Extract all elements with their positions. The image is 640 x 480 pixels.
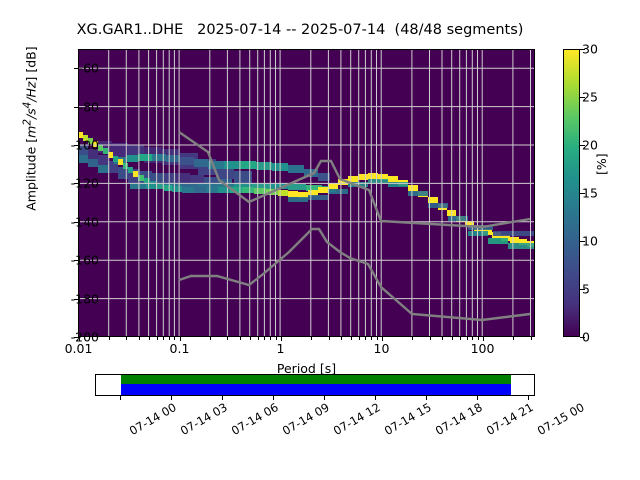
colorbar-label: [%] — [594, 153, 609, 175]
y-tick-mark — [74, 183, 79, 184]
x-minor-tick — [210, 337, 211, 340]
time-coverage-strip[interactable] — [95, 374, 535, 396]
y-tick-label: -60 — [39, 61, 99, 76]
colorbar-tick-mark — [580, 289, 585, 290]
colorbar-tick-mark — [580, 49, 585, 50]
y-axis-label: Amplitude [m2/s4/Hz] [dB] — [21, 4, 38, 254]
y-tick-label: -180 — [39, 291, 99, 306]
time-tick-label: 07-15 00 — [535, 400, 587, 438]
x-tick-mark — [180, 337, 181, 341]
colorbar-tick-mark — [580, 337, 585, 338]
x-minor-tick — [163, 337, 164, 340]
x-tick-label: 0.01 — [65, 341, 93, 356]
x-minor-tick — [341, 337, 342, 340]
x-minor-tick — [174, 337, 175, 340]
x-minor-tick — [365, 337, 366, 340]
x-tick-label: 100 — [471, 341, 495, 356]
x-tick-mark — [483, 337, 484, 341]
x-minor-tick — [377, 337, 378, 340]
x-minor-tick — [430, 337, 431, 340]
time-tick-label: 07-14 00 — [127, 400, 179, 438]
x-minor-tick — [258, 337, 259, 340]
time-tick-label: 07-14 03 — [178, 400, 230, 438]
time-tick-label: 07-14 09 — [280, 400, 332, 438]
x-minor-tick — [149, 337, 150, 340]
x-minor-tick — [250, 337, 251, 340]
x-tick-label: 1 — [277, 341, 285, 356]
x-tick-label: 10 — [374, 341, 390, 356]
colorbar-tick-mark — [580, 241, 585, 242]
time-tick-label: 07-14 21 — [484, 400, 536, 438]
y-tick-label: -80 — [39, 99, 99, 114]
ppsd-plot-area[interactable] — [78, 49, 535, 337]
x-tick-mark — [281, 337, 282, 341]
time-tick-label: 07-14 06 — [229, 400, 281, 438]
x-minor-tick — [412, 337, 413, 340]
x-tick-mark — [79, 337, 80, 341]
segment-coverage-bar — [121, 375, 511, 384]
x-minor-tick — [240, 337, 241, 340]
x-minor-tick — [329, 337, 330, 340]
x-tick-mark — [382, 337, 383, 341]
x-minor-tick — [460, 337, 461, 340]
y-tick-mark — [74, 68, 79, 69]
colorbar-tick-mark — [580, 193, 585, 194]
data-coverage-bar — [121, 384, 511, 395]
x-minor-tick — [311, 337, 312, 340]
time-tick-label: 07-14 18 — [433, 400, 485, 438]
time-tick-label: 07-14 12 — [331, 400, 383, 438]
x-minor-tick — [442, 337, 443, 340]
y-tick-label: -120 — [39, 176, 99, 191]
x-minor-tick — [351, 337, 352, 340]
colorbar-tick-mark — [580, 97, 585, 98]
ppsd-figure: XG.GAR1..DHE 2025-07-14 -- 2025-07-14 (4… — [0, 0, 640, 480]
ppsd-density-canvas — [78, 49, 535, 337]
x-minor-tick — [139, 337, 140, 340]
x-minor-tick — [264, 337, 265, 340]
y-tick-label: -160 — [39, 253, 99, 268]
time-tick-label: 07-14 15 — [382, 400, 434, 438]
x-minor-tick — [276, 337, 277, 340]
y-tick-mark — [74, 107, 79, 108]
x-minor-tick — [227, 337, 228, 340]
colorbar[interactable] — [563, 49, 580, 337]
x-minor-tick — [467, 337, 468, 340]
x-minor-tick — [472, 337, 473, 340]
x-minor-tick — [169, 337, 170, 340]
x-tick-label: 0.1 — [170, 341, 190, 356]
x-minor-tick — [359, 337, 360, 340]
x-minor-tick — [513, 337, 514, 340]
x-minor-tick — [478, 337, 479, 340]
y-tick-mark — [74, 145, 79, 146]
y-tick-mark — [74, 260, 79, 261]
y-tick-label: -140 — [39, 214, 99, 229]
x-minor-tick — [126, 337, 127, 340]
x-minor-tick — [157, 337, 158, 340]
x-minor-tick — [270, 337, 271, 340]
page-title: XG.GAR1..DHE 2025-07-14 -- 2025-07-14 (4… — [0, 22, 600, 38]
x-minor-tick — [531, 337, 532, 340]
y-tick-mark — [74, 299, 79, 300]
x-minor-tick — [452, 337, 453, 340]
x-minor-tick — [371, 337, 372, 340]
time-tick-mark — [120, 396, 121, 400]
y-tick-label: -100 — [39, 138, 99, 153]
x-minor-tick — [109, 337, 110, 340]
y-tick-mark — [74, 222, 79, 223]
colorbar-tick-mark — [580, 145, 585, 146]
